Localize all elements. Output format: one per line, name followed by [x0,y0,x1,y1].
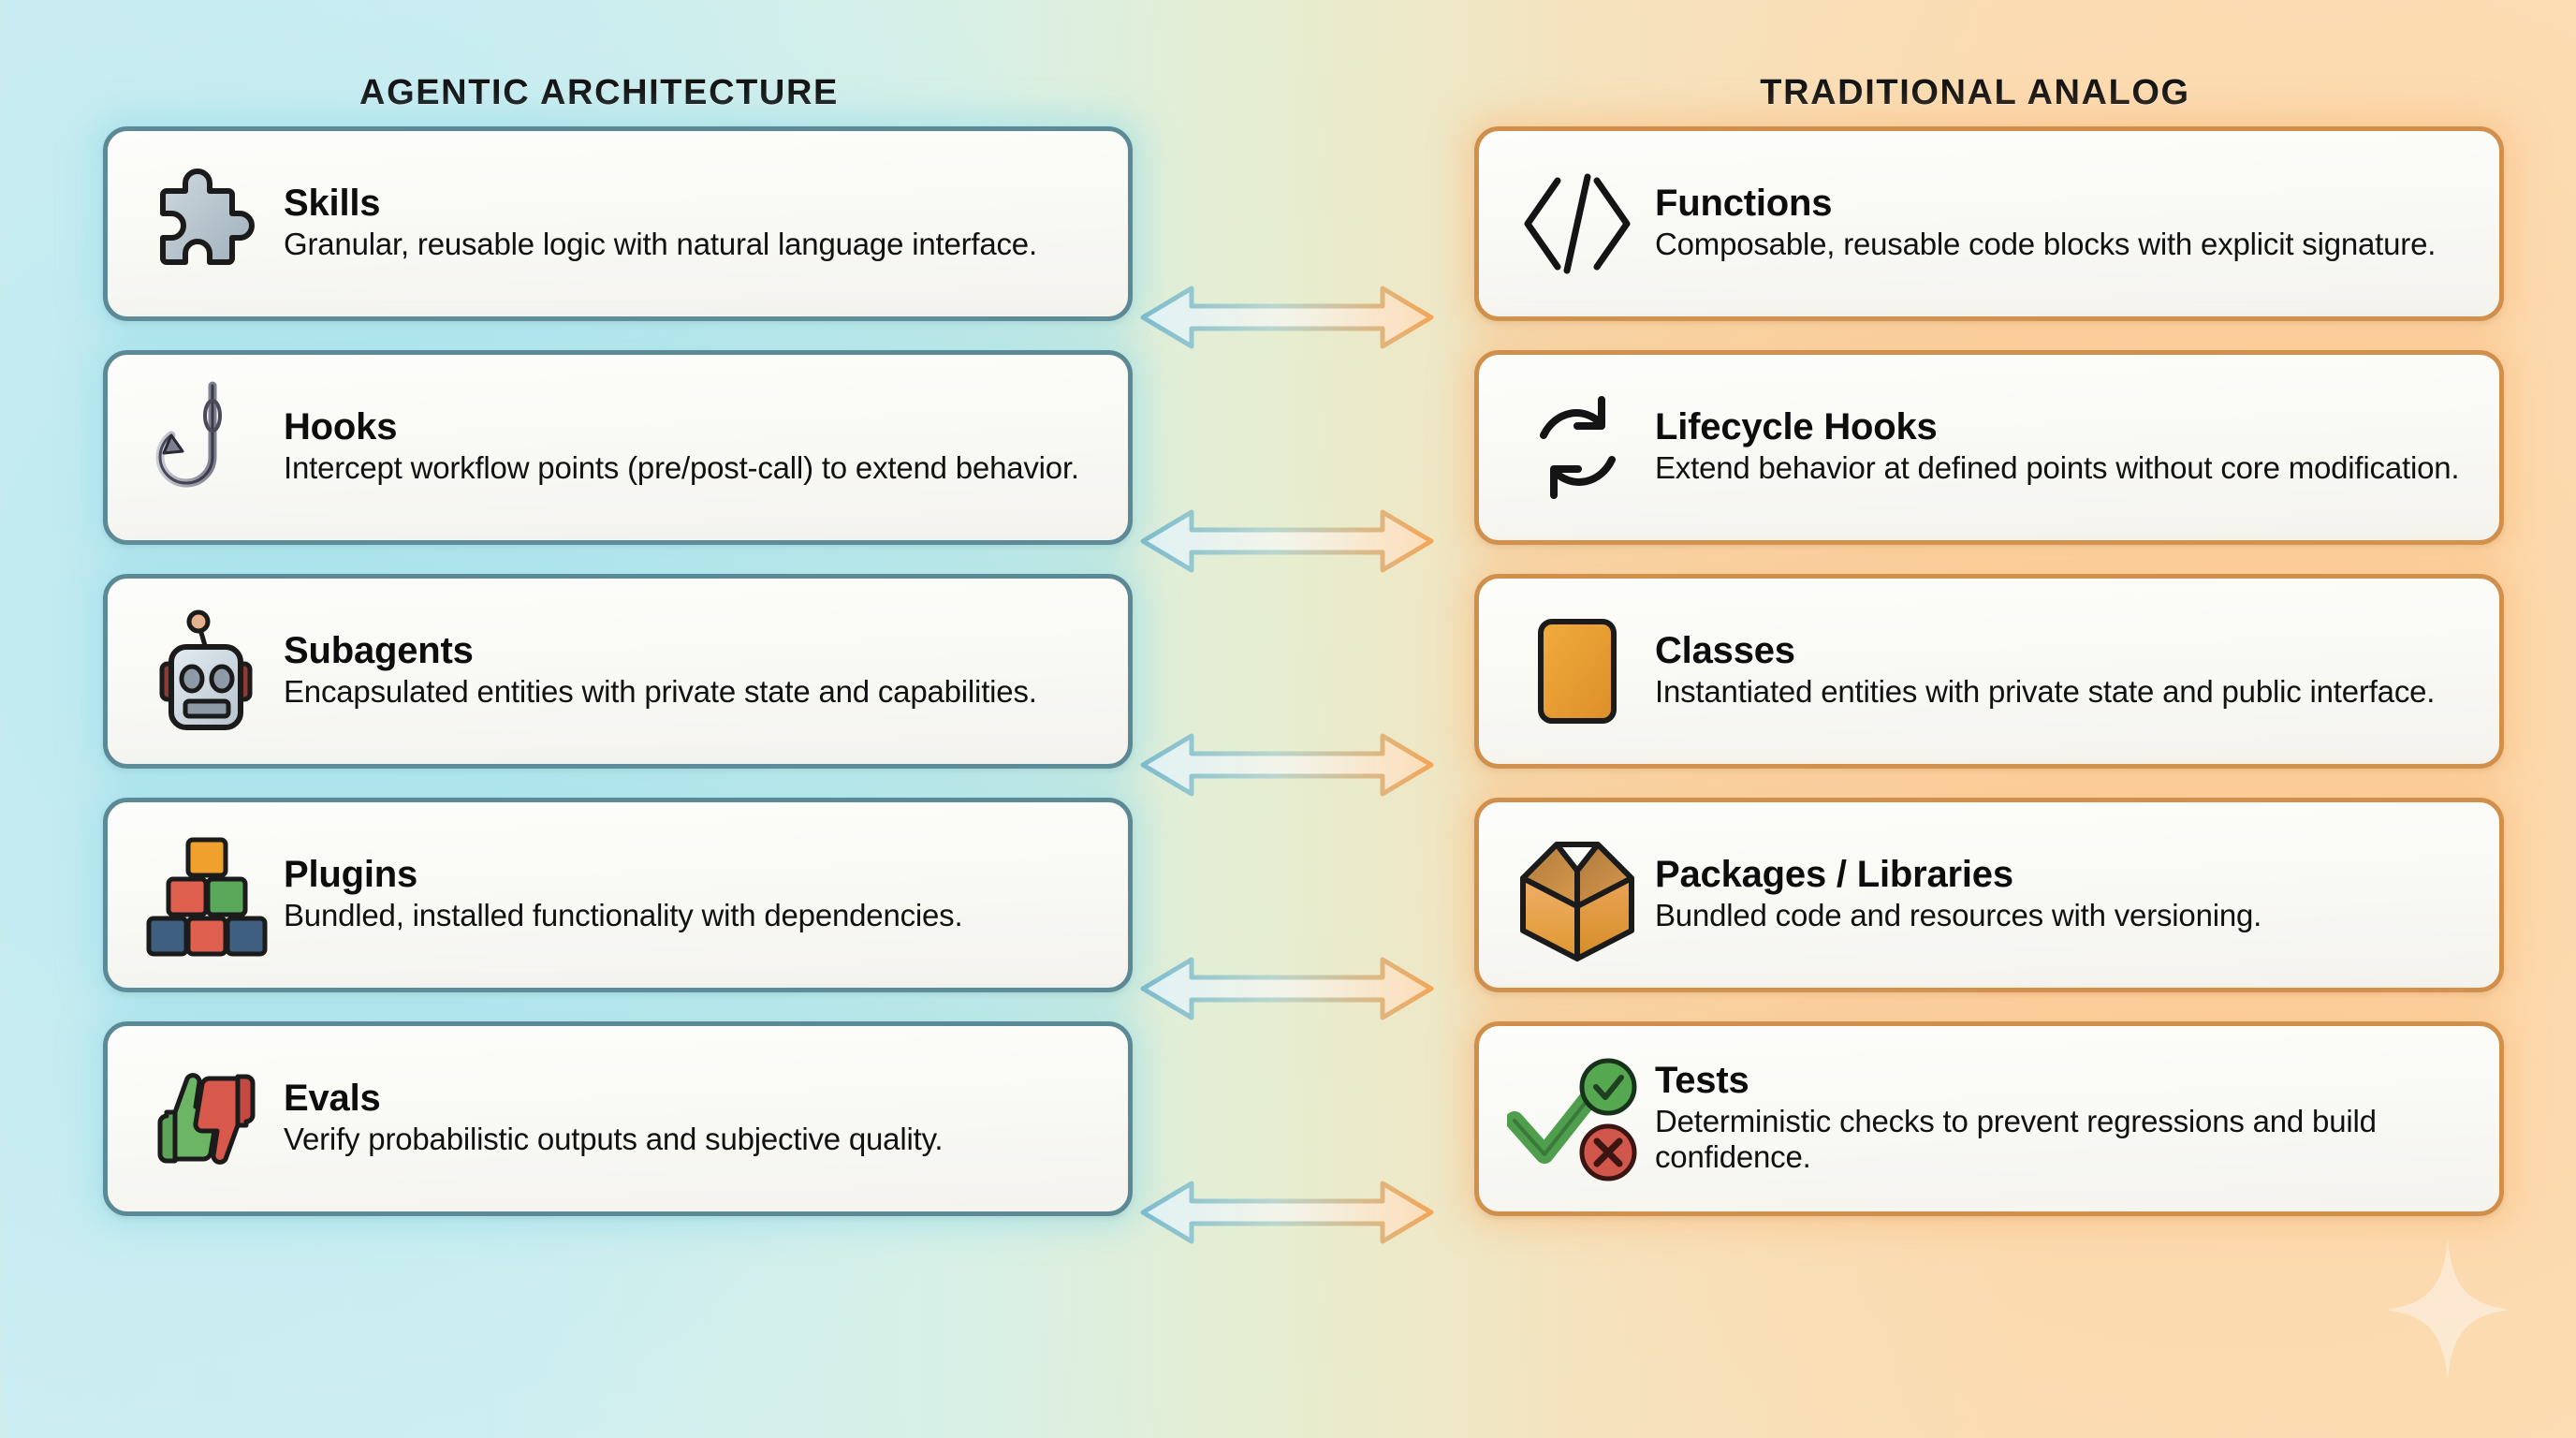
connector-arrow-evals-tests [1137,1176,1437,1249]
card-text-packages-libraries: Packages / Libraries Bundled code and re… [1647,856,2475,933]
connector-arrow-plugins-packages [1137,952,1437,1025]
connector-arrow-subagents-classes [1137,728,1437,801]
card-description: Intercept workflow points (pre/post-call… [284,450,1104,486]
card-text-plugins: Plugins Bundled, installed functionality… [276,856,1104,933]
card-title: Tests [1655,1062,2475,1100]
card-text-tests: Tests Deterministic checks to prevent re… [1647,1062,2475,1175]
card-title: Skills [284,184,1104,223]
card-text-functions: Functions Composable, reusable code bloc… [1647,184,2475,262]
code-brackets-icon [1507,154,1647,294]
card-description: Composable, reusable code blocks with ex… [1655,227,2475,262]
four-point-sparkle-icon [2387,1240,2509,1380]
card-description: Verify probabilistic outputs and subject… [284,1122,1104,1157]
card-title: Lifecycle Hooks [1655,408,2475,447]
card-text-classes: Classes Instantiated entities with priva… [1647,632,2475,710]
card-title: Plugins [284,856,1104,894]
orange-rounded-square-icon [1507,601,1647,741]
card-description: Bundled code and resources with versioni… [1655,898,2475,933]
card-description: Extend behavior at defined points withou… [1655,450,2475,486]
card-title: Hooks [284,408,1104,447]
diagram-stage: AGENTIC ARCHITECTURE TRADITIONAL ANALOG … [0,0,2576,1438]
checkmark-pass-fail-icon [1507,1049,1647,1189]
stacked-blocks-icon [136,825,276,965]
puzzle-piece-icon [136,154,276,294]
card-text-lifecycle-hooks: Lifecycle Hooks Extend behavior at defin… [1647,408,2475,486]
card-title: Subagents [284,632,1104,670]
column-header-traditional-analog: TRADITIONAL ANALOG [1442,73,2509,113]
robot-head-icon [136,601,276,741]
refresh-cycle-icon [1507,377,1647,518]
agentic-architecture-column: Skills Granular, reusable logic with nat… [103,126,1133,1216]
card-text-subagents: Subagents Encapsulated entities with pri… [276,632,1104,710]
card-lifecycle-hooks[interactable]: Lifecycle Hooks Extend behavior at defin… [1474,350,2504,545]
card-classes[interactable]: Classes Instantiated entities with priva… [1474,574,2504,769]
card-packages-libraries[interactable]: Packages / Libraries Bundled code and re… [1474,798,2504,992]
card-hooks[interactable]: Hooks Intercept workflow points (pre/pos… [103,350,1133,545]
card-title: Evals [284,1079,1104,1118]
card-description: Encapsulated entities with private state… [284,674,1104,710]
connector-arrow-skills-functions [1137,281,1437,354]
card-evals[interactable]: Evals Verify probabilistic outputs and s… [103,1021,1133,1216]
card-tests[interactable]: Tests Deterministic checks to prevent re… [1474,1021,2504,1216]
card-text-hooks: Hooks Intercept workflow points (pre/pos… [276,408,1104,486]
card-description: Granular, reusable logic with natural la… [284,227,1104,262]
connector-arrow-hooks-lifecycle-hooks [1137,505,1437,578]
card-title: Classes [1655,632,2475,670]
fishing-hook-icon [136,377,276,518]
card-title: Functions [1655,184,2475,223]
card-text-evals: Evals Verify probabilistic outputs and s… [276,1079,1104,1157]
card-plugins[interactable]: Plugins Bundled, installed functionality… [103,798,1133,992]
open-box-icon [1507,825,1647,965]
card-title: Packages / Libraries [1655,856,2475,894]
card-description: Instantiated entities with private state… [1655,674,2475,710]
card-description: Deterministic checks to prevent regressi… [1655,1104,2475,1176]
card-subagents[interactable]: Subagents Encapsulated entities with pri… [103,574,1133,769]
card-functions[interactable]: Functions Composable, reusable code bloc… [1474,126,2504,321]
card-text-skills: Skills Granular, reusable logic with nat… [276,184,1104,262]
card-description: Bundled, installed functionality with de… [284,898,1104,933]
thumbs-up-down-icon [136,1049,276,1189]
column-header-agentic-architecture: AGENTIC ARCHITECTURE [66,73,1133,113]
card-skills[interactable]: Skills Granular, reusable logic with nat… [103,126,1133,321]
traditional-analog-column: Functions Composable, reusable code bloc… [1474,126,2504,1216]
